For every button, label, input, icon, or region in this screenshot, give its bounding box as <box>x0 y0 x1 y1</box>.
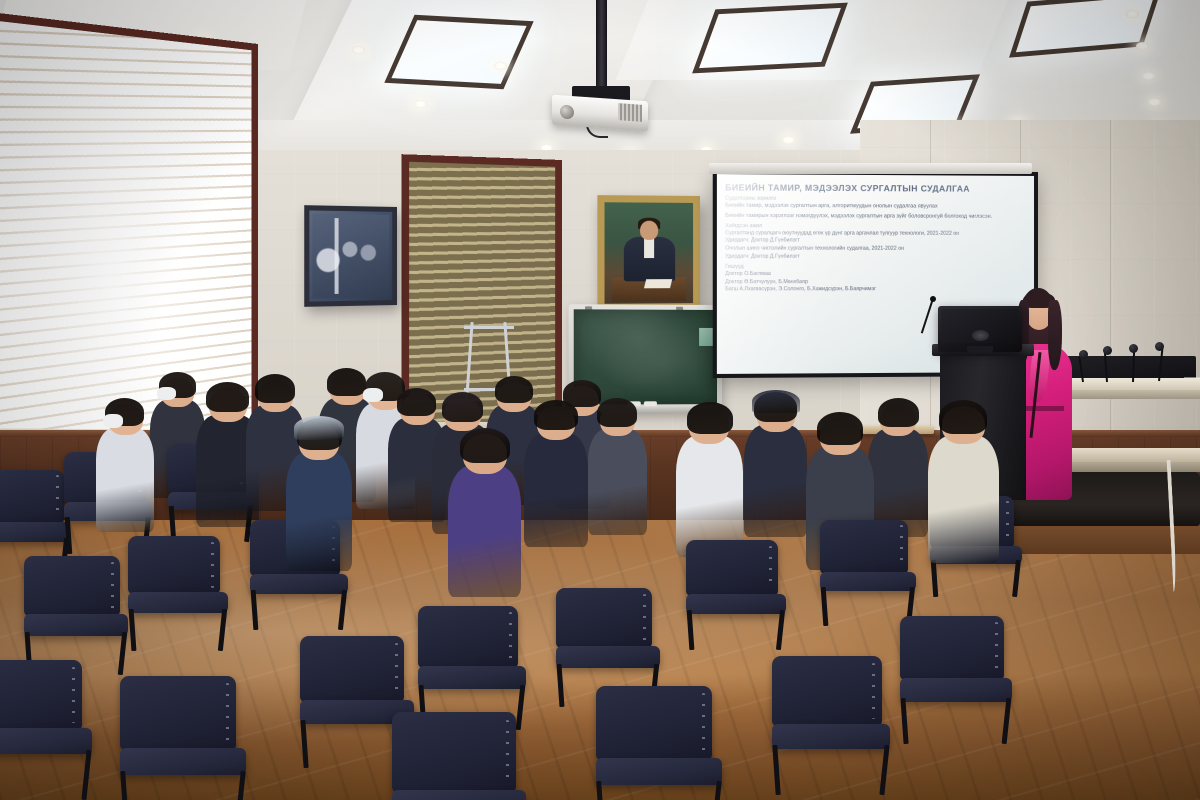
chair-back <box>300 636 404 702</box>
monitor-knob <box>972 330 989 341</box>
microphone-head <box>1079 350 1088 359</box>
slide-objective-text: Биеийн тамирын хэрэглээг нэмэгдүүлэх, мэ… <box>725 213 1028 222</box>
audience-hair <box>495 376 533 403</box>
chair-back <box>596 686 712 760</box>
audience-member <box>588 398 647 531</box>
lecture-hall-photo: БИЕИЙН ТАМИР, МЭДЭЭЛЭХ СУРГАЛТЫН СУДАЛГА… <box>0 0 1200 800</box>
projector-mount-pole <box>596 0 607 88</box>
audience-hair <box>534 400 578 430</box>
chair-leg <box>81 750 91 800</box>
photograph-image <box>312 214 389 299</box>
ceiling-panel-light <box>692 3 848 74</box>
audience-hair <box>687 402 733 434</box>
slide-member-1: Доктор О.Баглмаа <box>725 271 1028 279</box>
chair-back <box>820 520 908 574</box>
photograph-divider <box>335 218 339 294</box>
downlight <box>1126 10 1139 18</box>
chair[interactable] <box>120 676 246 800</box>
chair-back <box>556 588 652 648</box>
chair-back <box>686 540 778 596</box>
chair-back <box>0 470 64 524</box>
chair-leg <box>900 698 908 744</box>
audience-hair <box>460 428 510 463</box>
audience-member <box>448 428 521 592</box>
chair-seat <box>24 614 128 636</box>
chair-seat <box>0 522 70 542</box>
chair-seat <box>392 790 526 800</box>
slide-goal-text: Биеийн тамир, мэдээлэх сургалтын арга, а… <box>725 203 1028 212</box>
audience-hair <box>939 400 987 434</box>
slide-title: БИЕИЙН ТАМИР, МЭДЭЭЛЭХ СУРГАЛТЫН СУДАЛГА… <box>725 182 1028 194</box>
audience-torso <box>588 429 647 535</box>
face-mask <box>157 387 176 400</box>
audience-torso <box>286 452 352 571</box>
chair-back <box>24 556 120 616</box>
framed-group-photograph <box>304 205 397 307</box>
chair-leg <box>251 590 259 630</box>
face-mask <box>103 414 123 428</box>
audience-torso <box>928 436 999 563</box>
projection-screen-housing <box>709 163 1032 174</box>
chair-back <box>900 616 1004 680</box>
audience-member <box>868 398 928 533</box>
audience-hair <box>255 374 295 403</box>
chair-seat <box>556 646 660 668</box>
monitor-base <box>967 346 994 353</box>
slide-member-3: Багш А.Лхагвасүрэн, Э.Солонго, Б.Хажидсү… <box>725 286 1028 294</box>
audience-hair <box>597 398 637 427</box>
chair-leg <box>300 720 308 768</box>
chair-leg <box>120 771 129 800</box>
chair-leg <box>235 771 246 800</box>
chair[interactable] <box>128 536 228 655</box>
audience-member <box>676 402 743 553</box>
audience-torso <box>96 428 154 532</box>
downlight <box>414 100 427 108</box>
audience-hair <box>442 392 483 422</box>
slide-goal-label: Судалгааны зорилго <box>725 195 1028 202</box>
chair-seat <box>250 574 348 594</box>
chair-leg <box>687 610 695 650</box>
chair-leg <box>118 632 127 675</box>
easel-crossbar <box>464 326 514 329</box>
face-mask <box>363 388 383 402</box>
framed-portrait <box>597 195 700 311</box>
microphone-head <box>1155 342 1164 351</box>
audience-hair <box>206 382 249 412</box>
chair[interactable] <box>596 686 722 800</box>
audience-cap <box>752 390 800 413</box>
downlight <box>1136 42 1149 50</box>
chair-leg <box>218 609 227 651</box>
downlight <box>1142 72 1155 80</box>
chair[interactable] <box>900 616 1012 744</box>
audience-hair <box>397 388 436 416</box>
chair-leg <box>776 610 785 650</box>
chair-leg <box>65 517 73 554</box>
slide-members-label: Гишүүд <box>725 264 1028 270</box>
chair-leg <box>879 745 889 795</box>
audience-hair <box>817 412 863 445</box>
chair-back <box>0 660 82 730</box>
slide-member-2: Доктор Ө.Батчулуун, Б.Мөнхбаяр <box>725 279 1028 287</box>
audience-member <box>524 400 588 543</box>
microphone-head <box>1103 346 1112 355</box>
chair[interactable] <box>686 540 786 656</box>
chair-back <box>418 606 518 668</box>
audience-torso <box>524 433 588 547</box>
chair-leg <box>129 609 137 651</box>
chair-seat <box>772 724 890 749</box>
chair-seat <box>418 666 526 689</box>
audience-member <box>928 400 999 559</box>
chair-leg <box>1012 560 1021 597</box>
downlight <box>352 46 365 54</box>
chair-seat <box>900 678 1012 702</box>
chair-seat <box>686 594 786 614</box>
audience-member <box>286 418 352 566</box>
slide-works-label: Хийгдсэн ажил <box>725 223 1028 230</box>
downlight <box>1148 98 1161 106</box>
chair-leg <box>557 664 565 707</box>
chair-leg <box>931 560 939 597</box>
portrait-shirt <box>644 238 655 258</box>
chair-back <box>772 656 882 726</box>
chair-seat <box>820 572 916 591</box>
slide-work-2-lead: Удирдагч: Доктор Д.Гүнбилэгт <box>725 254 1028 262</box>
chair[interactable] <box>772 656 890 791</box>
chair[interactable] <box>392 712 526 800</box>
projector-vent <box>618 103 642 122</box>
audience-torso <box>676 436 743 557</box>
lectern-microphone-head <box>930 296 936 302</box>
projector-lens <box>560 105 574 120</box>
board-note <box>699 328 713 346</box>
chair-leg <box>772 745 780 795</box>
chair-seat <box>0 728 92 754</box>
presenter-hair-right <box>1048 300 1062 370</box>
chair-leg <box>338 590 347 630</box>
lectern-monitor <box>938 306 1022 352</box>
presenter-belt <box>1020 406 1064 411</box>
chair-seat <box>120 748 246 775</box>
chair-seat <box>596 758 722 785</box>
audience-torso <box>744 425 807 537</box>
chair-back <box>392 712 516 792</box>
downlight <box>782 136 795 144</box>
audience-member <box>96 398 154 528</box>
chair-leg <box>821 587 829 626</box>
portrait-papers <box>644 279 673 288</box>
microphone-head <box>1129 344 1138 353</box>
audience-member <box>744 392 807 532</box>
audience-hair <box>878 398 919 427</box>
portrait-face <box>640 221 658 240</box>
chair-leg <box>1002 698 1012 744</box>
chair-back <box>128 536 220 594</box>
audience-torso <box>448 466 521 597</box>
downlight <box>494 62 507 70</box>
audience-cap <box>294 416 344 440</box>
chair-seat <box>128 592 228 613</box>
chair[interactable] <box>0 660 92 796</box>
chair-back <box>120 676 236 750</box>
